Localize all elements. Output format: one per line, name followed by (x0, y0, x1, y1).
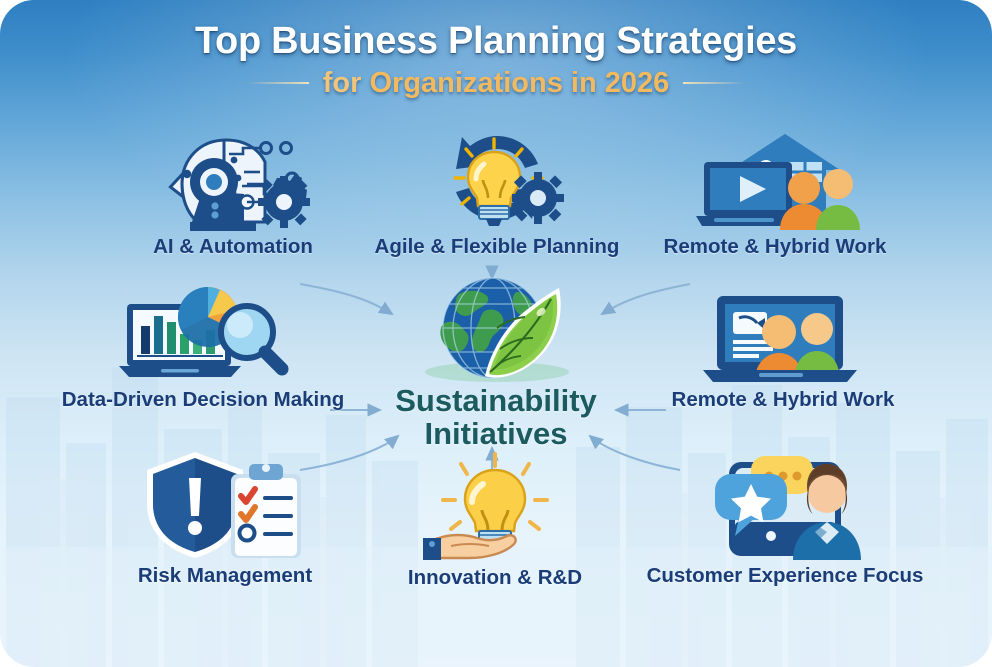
cycle-lightbulb-gear-icon (422, 126, 572, 231)
node-label: AI & Automation (98, 235, 368, 259)
node-risk-management[interactable]: Risk Management (100, 448, 350, 588)
node-innovation-rd[interactable]: Innovation & R&D (380, 452, 610, 590)
subtitle-row: for Organizations in 2026 (0, 68, 992, 100)
node-data-driven-decision-making[interactable]: Data-Driven Decision Making (48, 284, 358, 412)
subtitle-organizations: Organizations in 2026 (369, 67, 669, 99)
laptop-videocall-icon (693, 284, 873, 384)
rule-right (683, 82, 745, 84)
node-label: Agile & Flexible Planning (352, 235, 642, 259)
node-label: Customer Experience Focus (640, 564, 930, 588)
hub-label-line1: Sustainability (395, 383, 597, 418)
shield-clipboard-icon (135, 448, 315, 560)
node-ai-automation[interactable]: AI & Automation (98, 126, 368, 259)
hand-lightbulb-icon (405, 452, 585, 562)
node-label: Data-Driven Decision Making (48, 388, 358, 412)
title-block: Top Business Planning Strategies for Org… (0, 20, 992, 99)
node-label: Remote & Hybrid Work (648, 388, 918, 412)
hub-label: Sustainability Initiatives (346, 384, 646, 451)
laptop-charts-magnifier-icon (113, 284, 293, 384)
node-customer-experience-focus[interactable]: Customer Experience Focus (640, 448, 930, 588)
rule-left (247, 82, 309, 84)
infographic-poster: Top Business Planning Strategies for Org… (0, 0, 992, 667)
laptop-house-people-icon (688, 126, 863, 231)
robot-head-gear-icon (146, 126, 321, 231)
page-subtitle: for Organizations in 2026 (323, 68, 670, 100)
node-label: Innovation & R&D (380, 566, 610, 590)
hub-label-line2: Initiatives (425, 416, 568, 451)
node-label: Risk Management (100, 564, 350, 588)
node-label: Remote & Hybrid Work (640, 235, 910, 259)
globe-leaf-icon (401, 272, 591, 384)
page-title: Top Business Planning Strategies (0, 20, 992, 63)
node-agile-planning[interactable]: Agile & Flexible Planning (352, 126, 642, 259)
subtitle-for: for (323, 67, 362, 99)
node-remote-hybrid-work-top[interactable]: Remote & Hybrid Work (640, 126, 910, 259)
person-speech-bubbles-icon (695, 448, 875, 560)
center-hub-sustainability[interactable]: Sustainability Initiatives (346, 272, 646, 451)
node-remote-hybrid-work-middle[interactable]: Remote & Hybrid Work (648, 284, 918, 412)
